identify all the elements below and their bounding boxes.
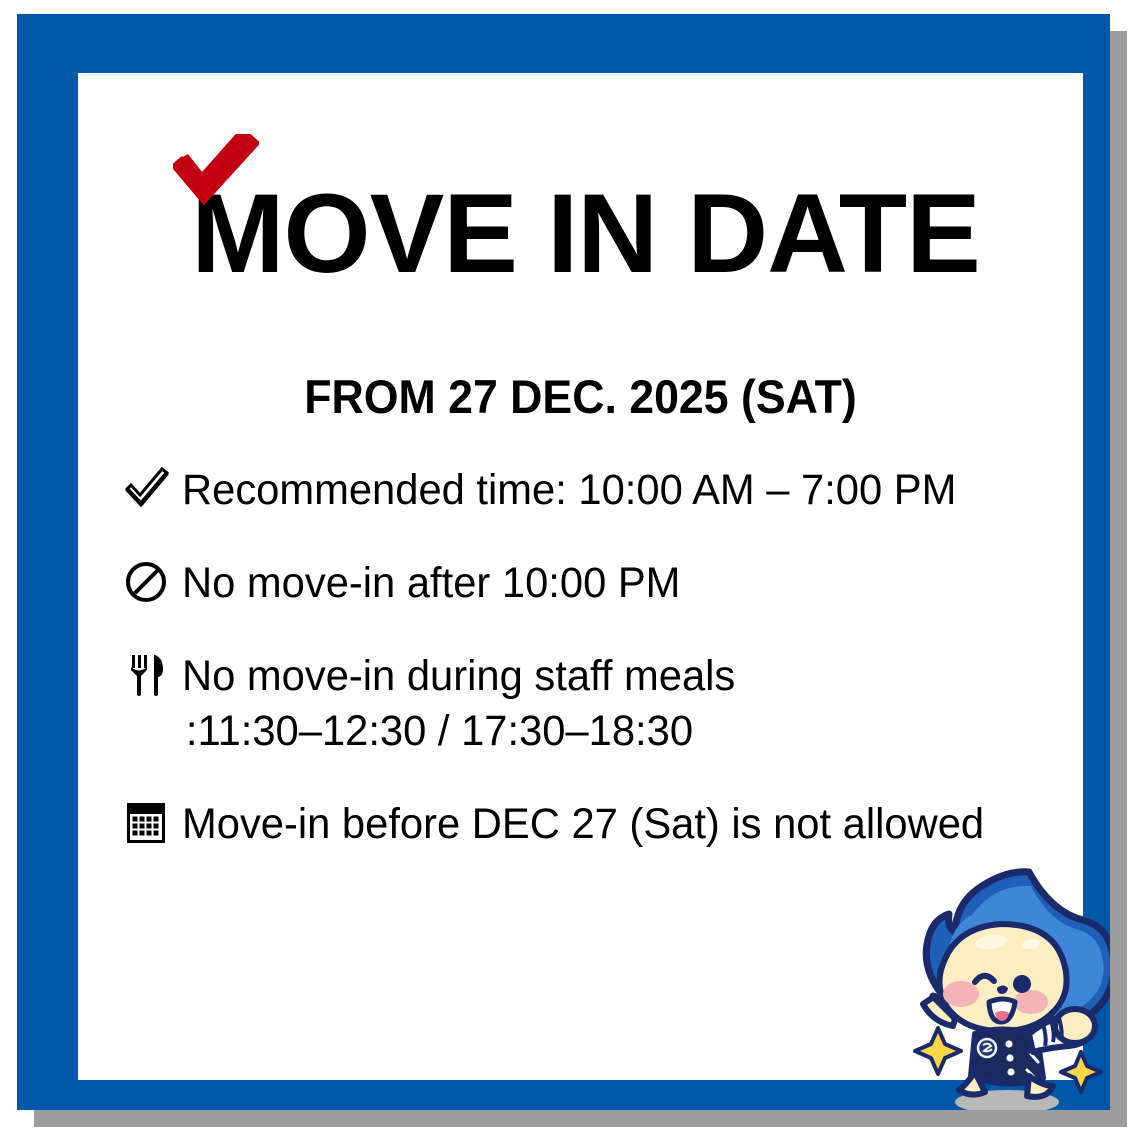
blue-flame-hair-mascot bbox=[879, 866, 1110, 1110]
list-item: No move-in after 10:00 PM bbox=[122, 556, 1072, 611]
red-check-icon bbox=[173, 134, 259, 208]
poster-blue-border: MOVE IN DATE FROM 27 DEC. 2025 (SAT) Rec… bbox=[17, 14, 1110, 1110]
list-item: No move-in during staff meals :11:30–12:… bbox=[122, 649, 1072, 759]
poster-subtitle: FROM 27 DEC. 2025 (SAT) bbox=[103, 369, 1058, 424]
list-item: Move-in before DEC 27 (Sat) is not allow… bbox=[122, 797, 1072, 852]
outlined-check-icon bbox=[122, 465, 172, 513]
list-item-label: Move-in before DEC 27 (Sat) is not allow… bbox=[182, 797, 984, 852]
prohibition-slashed-circle-icon bbox=[122, 558, 172, 606]
calendar-icon bbox=[122, 799, 172, 847]
list-item-label: Recommended time: 10:00 AM – 7:00 PM bbox=[182, 463, 956, 518]
list-item-label: No move-in during staff meals :11:30–12:… bbox=[182, 649, 735, 759]
list-item: Recommended time: 10:00 AM – 7:00 PM bbox=[122, 463, 1072, 518]
list-item-label: No move-in after 10:00 PM bbox=[182, 556, 680, 611]
list-item-line-1: No move-in during staff meals bbox=[182, 652, 735, 700]
list-item-line-2: :11:30–12:30 / 17:30–18:30 bbox=[182, 704, 735, 759]
title-row: MOVE IN DATE bbox=[181, 178, 980, 290]
page-title: MOVE IN DATE bbox=[191, 171, 980, 296]
fork-and-knife-icon bbox=[122, 651, 172, 699]
bullet-list: Recommended time: 10:00 AM – 7:00 PM No … bbox=[122, 463, 1072, 890]
poster-heading: MOVE IN DATE bbox=[78, 178, 1083, 290]
poster-root: MOVE IN DATE FROM 27 DEC. 2025 (SAT) Rec… bbox=[0, 0, 1134, 1134]
